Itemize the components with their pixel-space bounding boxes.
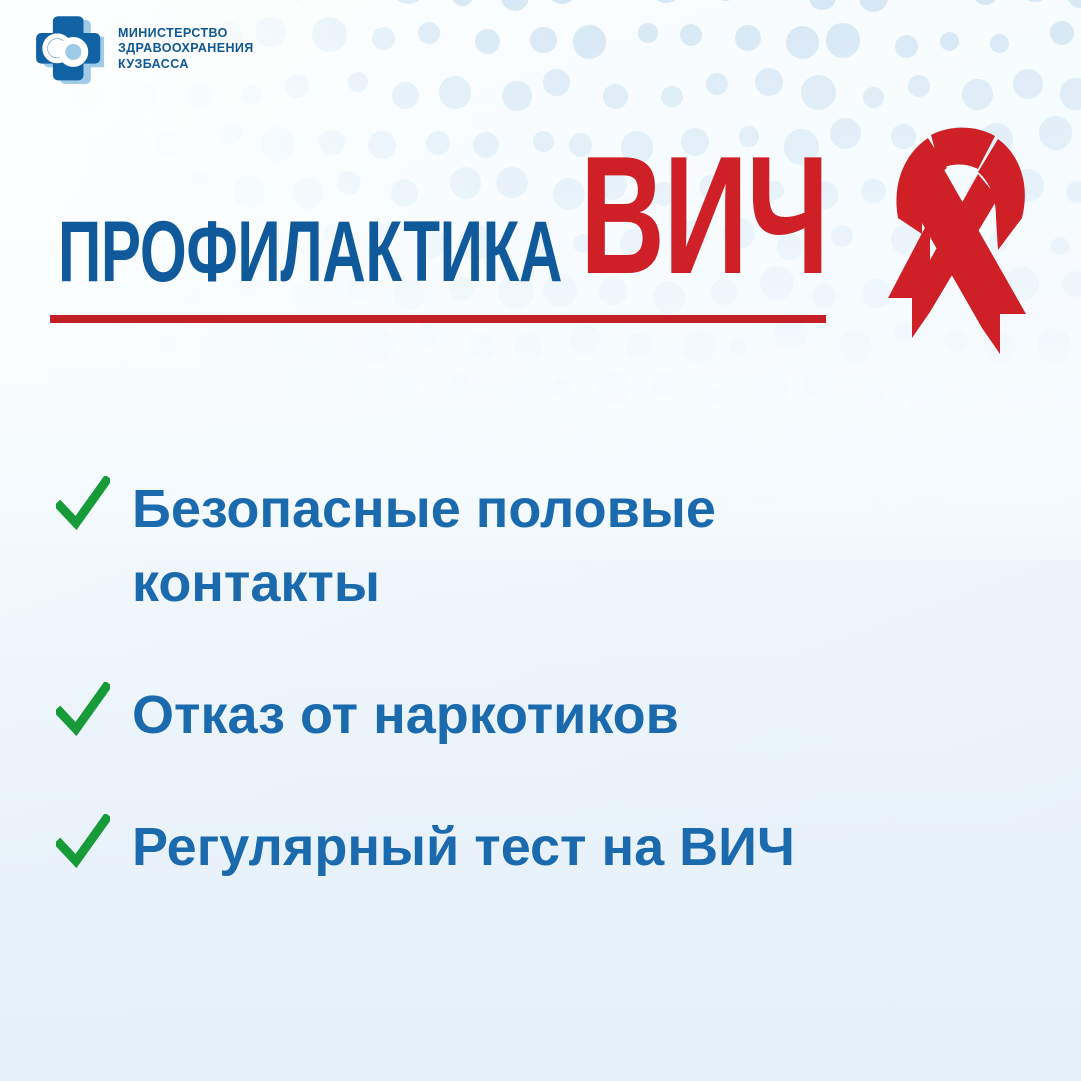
background-dot — [1048, 532, 1073, 557]
background-dot — [530, 27, 557, 54]
background-dot — [423, 419, 458, 454]
background-dot — [704, 388, 722, 406]
background-dot — [905, 381, 934, 410]
list-item-label: Безопасные половые контакты — [132, 472, 952, 620]
background-dot — [311, 335, 336, 360]
background-dot — [391, 0, 426, 4]
background-dot — [514, 332, 543, 361]
background-dot — [830, 118, 861, 149]
background-dot — [187, 82, 212, 107]
background-dot — [755, 68, 784, 97]
background-dot — [966, 384, 985, 403]
background-dot — [372, 27, 395, 50]
background-dot — [786, 26, 819, 59]
background-dot — [182, 0, 203, 1]
background-dot — [803, 367, 835, 399]
list-item-label: Отказ от наркотиков — [132, 678, 679, 752]
background-dot — [627, 435, 653, 461]
background-dot — [312, 17, 347, 52]
background-dot — [253, 425, 283, 455]
background-dot — [1060, 78, 1081, 110]
background-dot — [661, 86, 683, 108]
background-dot — [359, 328, 394, 363]
background-dot — [809, 0, 836, 10]
background-dot — [759, 372, 790, 403]
background-dot — [713, 0, 739, 1]
background-dot — [1059, 479, 1081, 513]
background-dot — [859, 0, 889, 12]
background-dot — [888, 435, 913, 460]
background-dot — [597, 371, 632, 406]
background-dot — [949, 428, 971, 450]
background-dot — [908, 75, 930, 97]
background-dot — [1051, 237, 1070, 256]
background-dot — [973, 0, 998, 5]
background-dot — [392, 374, 421, 403]
background-dot — [121, 80, 155, 114]
background-dot — [285, 74, 309, 98]
background-dot — [452, 0, 472, 6]
background-dot — [863, 87, 884, 108]
ministry-name: МИНИСТЕРСТВО ЗДРАВООХРАНЕНИЯ КУЗБАССА — [118, 26, 254, 73]
background-dot — [286, 368, 321, 403]
background-dot — [183, 368, 215, 400]
background-dot — [553, 378, 573, 398]
background-dot — [392, 82, 419, 109]
background-dot — [998, 432, 1021, 455]
background-dot — [232, 372, 255, 395]
background-dot — [502, 81, 533, 112]
background-dot — [729, 338, 747, 356]
background-dot — [449, 374, 472, 397]
background-dot — [520, 419, 549, 448]
background-dot — [287, 0, 307, 1]
background-dot — [569, 324, 600, 355]
background-dot — [74, 81, 100, 107]
list-item: Отказ от наркотиков — [56, 678, 1046, 752]
background-dot — [162, 424, 195, 457]
background-dot — [826, 23, 861, 58]
background-dot — [255, 17, 285, 47]
background-dot — [895, 35, 918, 58]
background-dot — [264, 319, 300, 355]
background-dot — [940, 32, 959, 51]
list-item: Безопасные половые контакты — [56, 472, 1046, 620]
background-dot — [1013, 382, 1039, 408]
background-dot — [1050, 21, 1074, 45]
background-dot — [1061, 378, 1081, 410]
ministry-brand: МИНИСТЕРСТВО ЗДРАВООХРАНЕНИЯ КУЗБАССА — [28, 14, 254, 84]
background-dot — [720, 419, 752, 451]
poster-canvas: МИНИСТЕРСТВО ЗДРАВООХРАНЕНИЯ КУЗБАССА ПР… — [0, 0, 1081, 1081]
background-dot — [1013, 69, 1043, 99]
background-dot — [1066, 181, 1081, 203]
list-item: Регулярный тест на ВИЧ — [56, 810, 1046, 884]
background-dot — [475, 29, 500, 54]
headline: ПРОФИЛАКТИКА ВИЧ — [56, 150, 846, 295]
background-dot — [651, 373, 674, 396]
background-dot — [416, 323, 439, 346]
background-dot — [962, 79, 993, 110]
background-dot — [990, 34, 1009, 53]
background-dot — [543, 69, 570, 96]
background-dot — [650, 0, 683, 3]
background-dot — [603, 84, 629, 110]
background-dot — [477, 421, 500, 444]
background-dot — [501, 0, 529, 11]
background-dot — [801, 75, 836, 110]
background-dot — [862, 385, 886, 409]
double-cross-health-ministry-logo-icon — [28, 14, 104, 84]
background-dot — [134, 371, 162, 399]
background-dot — [1062, 271, 1081, 297]
headline-underline-rule — [50, 315, 826, 323]
background-dot — [209, 420, 237, 448]
background-dot — [418, 22, 440, 44]
background-dot — [571, 428, 597, 454]
background-dot — [638, 23, 658, 43]
background-dot — [108, 118, 143, 153]
background-dot — [347, 375, 370, 398]
background-dot — [680, 24, 702, 46]
background-dot — [683, 330, 717, 364]
background-dot — [469, 333, 495, 359]
background-dot — [1037, 328, 1071, 362]
background-dot — [348, 72, 368, 92]
background-dot — [1067, 0, 1081, 8]
aids-awareness-ribbon-icon — [878, 122, 1028, 354]
background-dot — [839, 330, 872, 363]
background-dot — [706, 73, 728, 95]
background-dot — [1020, 0, 1051, 2]
background-dot — [158, 332, 181, 355]
background-dot — [683, 436, 703, 456]
background-dot — [573, 25, 606, 58]
background-dot — [241, 85, 261, 105]
prevention-list: Безопасные половые контакты Отказ от нар… — [56, 472, 1046, 884]
background-dot — [778, 426, 809, 457]
background-dot — [362, 421, 393, 452]
background-dot — [78, 0, 113, 5]
background-dot — [1039, 116, 1072, 149]
background-dot — [214, 320, 238, 344]
list-item-label: Регулярный тест на ВИЧ — [132, 810, 795, 884]
check-mark-icon — [56, 682, 110, 740]
headline-main: ПРОФИЛАКТИКА — [58, 209, 562, 295]
background-dot — [1049, 427, 1076, 454]
background-dot — [735, 25, 761, 51]
background-dot — [319, 433, 347, 461]
check-mark-icon — [56, 814, 110, 872]
background-dot — [439, 76, 472, 109]
headline-accent: ВИЧ — [580, 131, 828, 299]
background-dot — [506, 383, 529, 406]
background-dot — [626, 333, 652, 359]
check-mark-icon — [56, 476, 110, 534]
background-dot — [220, 122, 242, 144]
background-dot — [837, 424, 871, 458]
background-dot — [546, 0, 578, 4]
